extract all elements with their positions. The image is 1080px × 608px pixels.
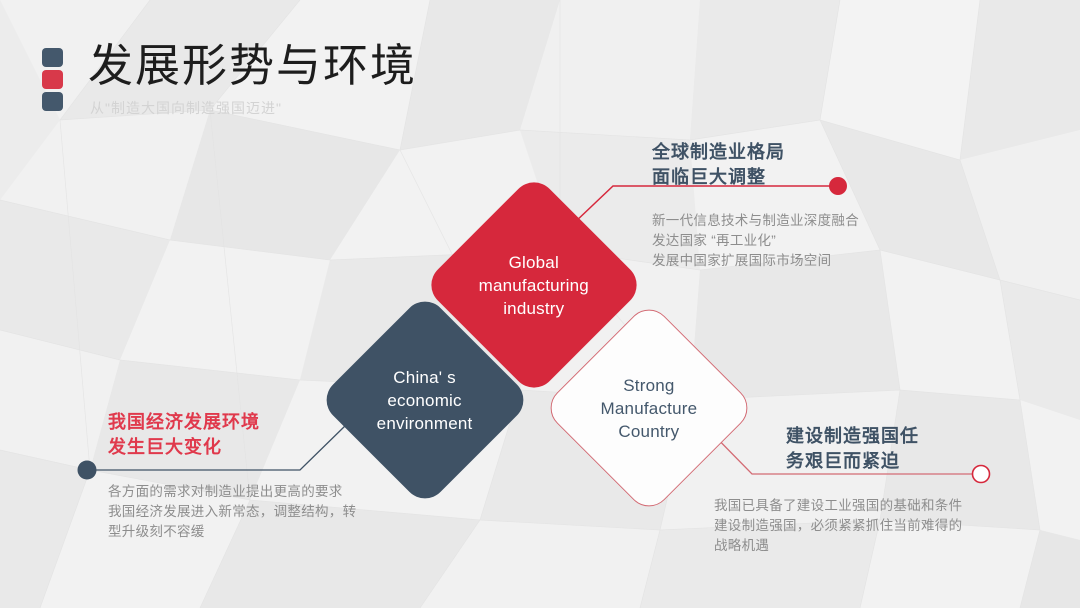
title-mark-blue-bottom: [42, 92, 63, 111]
callout-body: 各方面的需求对制造业提出更高的要求 我国经济发展进入新常态，调整结构，转 型升级…: [108, 482, 428, 542]
diamond-label: Global manufacturing industry: [479, 250, 589, 319]
callout-heading: 我国经济发展环境 发生巨大变化: [108, 410, 428, 460]
callout-body: 新一代信息技术与制造业深度融合 发达国家 “再工业化” 发展中国家扩展国际市场空…: [652, 211, 952, 271]
callout-heading: 建设制造强国任 务艰巨而紧迫: [786, 424, 1080, 474]
page-subtitle: 从"制造大国向制造强国迈进": [90, 98, 282, 118]
title-mark-blue-top: [42, 48, 63, 67]
title-block: 发展形势与环境 从"制造大国向制造强国迈进": [40, 38, 660, 128]
diamond-label: Strong Manufacture Country: [601, 373, 698, 442]
endpoint-dot-filled-blue: [78, 461, 97, 480]
callout-body: 我国已具备了建设工业强国的基础和条件 建设制造强国，必须紧紧抓住当前难得的 战略…: [714, 496, 1014, 556]
title-marks: [42, 48, 63, 114]
callout-bottom-left: 我国经济发展环境 发生巨大变化 各方面的需求对制造业提出更高的要求 我国经济发展…: [108, 410, 428, 542]
callout-bottom-right: 建设制造强国任 务艰巨而紧迫 我国已具备了建设工业强国的基础和条件 建设制造强国…: [786, 424, 1080, 556]
callout-top-right: 全球制造业格局 面临巨大调整 新一代信息技术与制造业深度融合 发达国家 “再工业…: [652, 140, 952, 271]
slide-canvas: 发展形势与环境 从"制造大国向制造强国迈进" Global manufactur…: [0, 0, 1080, 608]
title-mark-red-middle: [42, 70, 63, 89]
page-title: 发展形势与环境: [88, 38, 417, 94]
callout-heading: 全球制造业格局 面临巨大调整: [652, 140, 952, 190]
